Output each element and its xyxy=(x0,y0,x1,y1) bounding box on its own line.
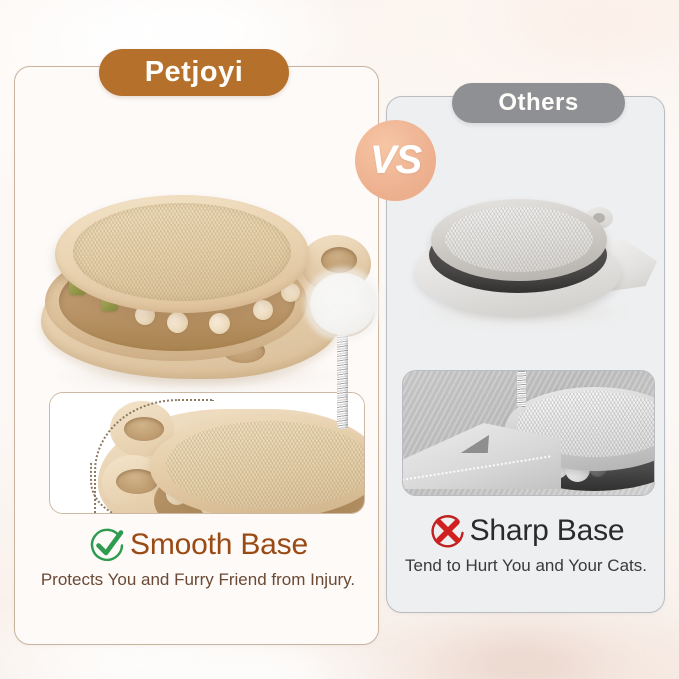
verdict-subtitle: Tend to Hurt You and Your Cats. xyxy=(393,555,659,576)
metal-spring xyxy=(517,370,526,407)
verdict-heading: Sharp Base xyxy=(393,511,659,551)
comparison-infographic: Smooth Base Protects You and Furry Frien… xyxy=(0,0,679,679)
scratcher-top-disc xyxy=(431,199,607,281)
versus-label: VS xyxy=(370,138,421,183)
others-label: Others xyxy=(498,89,578,117)
verdict-title: Smooth Base xyxy=(130,529,308,561)
others-badge: Others xyxy=(452,83,625,123)
check-circle-icon xyxy=(88,525,128,565)
verdict-subtitle: Protects You and Furry Friend from Injur… xyxy=(31,569,365,590)
smooth-base-verdict: Smooth Base Protects You and Furry Frien… xyxy=(31,525,365,590)
verdict-title: Sharp Base xyxy=(470,515,625,547)
sharp-base-verdict: Sharp Base Tend to Hurt You and Your Cat… xyxy=(393,511,659,576)
petjoyi-brand-label: Petjoyi xyxy=(145,56,244,89)
verdict-heading: Smooth Base xyxy=(31,525,365,565)
petjoyi-product-image xyxy=(25,187,355,387)
rolling-ball xyxy=(167,312,188,333)
petjoyi-panel: Smooth Base Protects You and Furry Frien… xyxy=(14,66,379,645)
petjoyi-brand-badge: Petjoyi xyxy=(99,49,289,96)
smooth-edge-dotted-outline xyxy=(90,463,200,514)
rolling-ball xyxy=(253,300,273,320)
others-product-image xyxy=(409,187,659,332)
sisal-scratch-pad xyxy=(445,206,593,272)
pompom-ball xyxy=(310,273,376,335)
sisal-scratch-pad xyxy=(73,203,291,301)
x-circle-icon xyxy=(428,511,468,551)
smooth-edge-detail-card xyxy=(49,392,365,514)
versus-badge: VS xyxy=(355,120,436,201)
sharp-edge-detail-card xyxy=(402,370,655,496)
spring-pompom-toy xyxy=(312,273,376,398)
scratcher-top-disc xyxy=(55,195,309,313)
rolling-ball xyxy=(209,313,230,334)
